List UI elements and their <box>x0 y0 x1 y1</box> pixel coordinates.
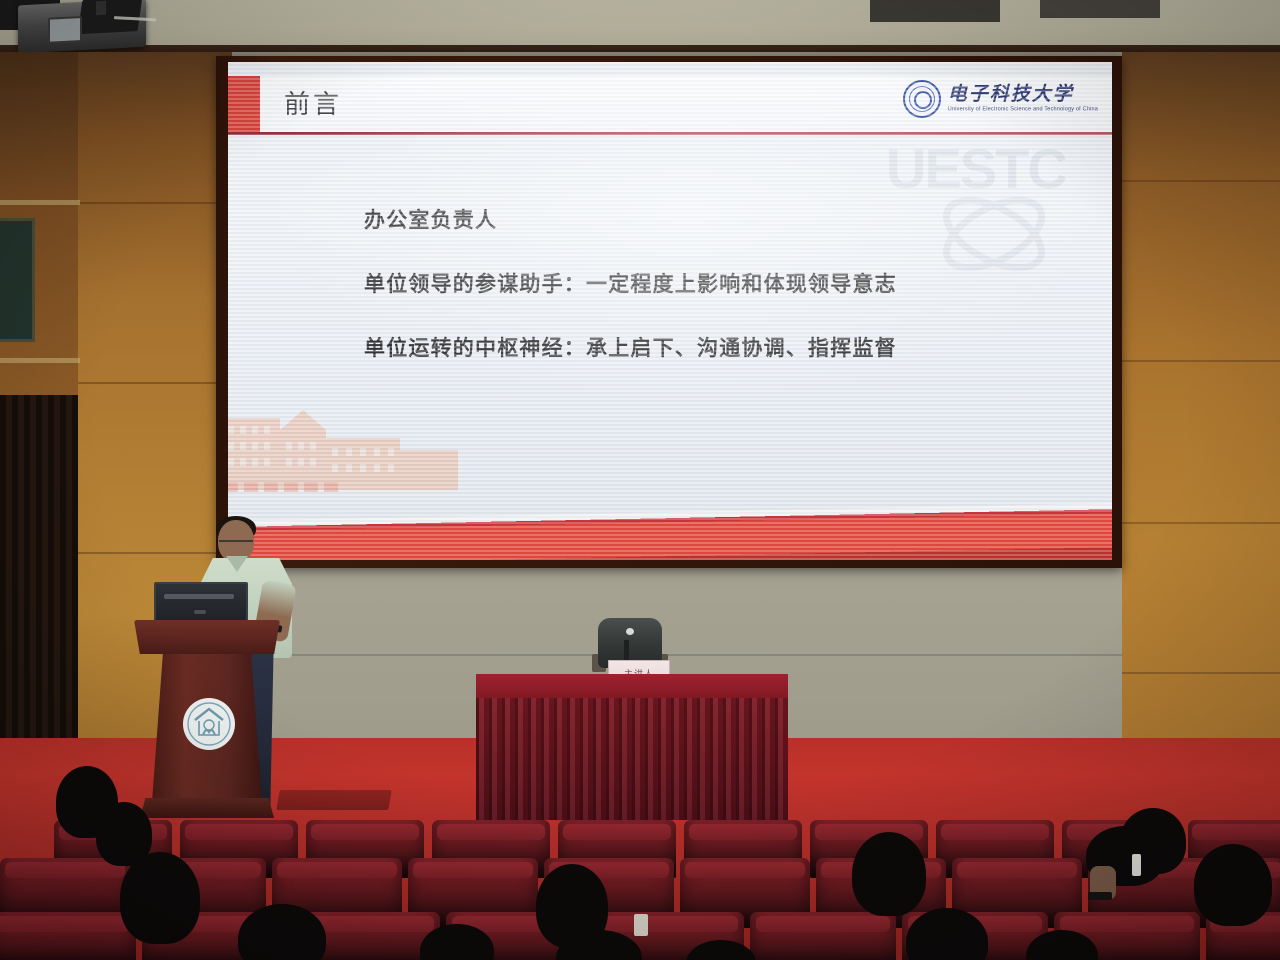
seat <box>750 912 896 960</box>
audience-head <box>852 832 926 916</box>
audience-bottle <box>1132 854 1141 876</box>
campus-building-graphic <box>228 396 482 516</box>
wall-green-panel <box>0 218 35 342</box>
left-wall-trim-upper <box>0 200 80 205</box>
audience-seating <box>0 808 1280 960</box>
projector-arm <box>96 1 106 16</box>
speaker-podium <box>134 620 280 820</box>
audience-head <box>1120 808 1186 874</box>
audience-wristwatch-icon <box>1088 892 1112 900</box>
audience-head <box>1194 844 1272 926</box>
lecture-hall-scene: 前言 电子科技大学 University of Electronic Scien… <box>0 0 1280 960</box>
slide-body: 办公室负责人 单位领导的参谋助手：一定程度上影响和体现领导意志 单位运转的中枢神… <box>364 204 1052 396</box>
chair-label-icon <box>626 628 634 635</box>
left-wall-trim-lower <box>0 358 80 363</box>
audience-head <box>120 852 200 944</box>
slide-line-2: 单位运转的中枢神经：承上启下、沟通协调、指挥监督 <box>364 332 1052 362</box>
table-skirt <box>476 698 788 820</box>
right-wood-wall <box>1122 52 1280 792</box>
seat <box>0 912 136 960</box>
university-name-cn: 电子科技大学 <box>948 85 1098 105</box>
slide-header-rule <box>228 132 1112 135</box>
laptop-screen-bar <box>164 594 234 599</box>
slide-title: 前言 <box>284 84 342 121</box>
glasses-icon <box>219 540 253 549</box>
laptop-logo-icon <box>194 610 206 614</box>
slide-heading: 办公室负责人 <box>364 204 1052 234</box>
ceiling-panel-right <box>870 0 1000 22</box>
head-table: 主讲人 <box>476 674 788 820</box>
back-wall-seam <box>232 654 1122 656</box>
ceiling-panel-right-2 <box>1040 0 1160 18</box>
university-logo: 电子科技大学 University of Electronic Science … <box>903 80 1098 118</box>
university-seal-icon <box>903 80 941 118</box>
university-name-en: University of Electronic Science and Tec… <box>948 107 1098 114</box>
slide-header-accent-block <box>228 76 260 132</box>
chair-slot <box>624 640 629 662</box>
ceiling-projector <box>18 0 146 53</box>
watermark-text: UESTC <box>886 136 1066 201</box>
podium-crest-icon <box>183 698 235 750</box>
table-top-cloth <box>476 674 788 700</box>
podium-top <box>134 620 280 654</box>
audience-phone <box>634 914 648 936</box>
slide-line-1: 单位领导的参谋助手：一定程度上影响和体现领导意志 <box>364 268 1052 298</box>
projector-lens-icon <box>48 16 82 44</box>
presentation-slide[interactable]: 前言 电子科技大学 University of Electronic Scien… <box>228 62 1112 560</box>
left-stage-curtain <box>0 395 78 780</box>
